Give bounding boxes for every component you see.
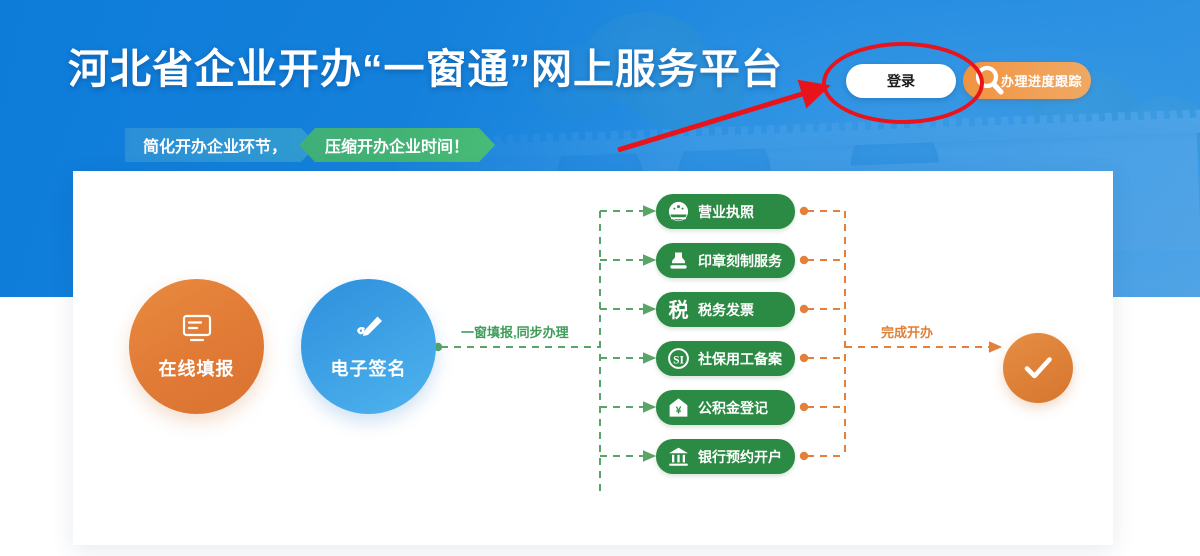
service-label: 税务发票 [698, 300, 754, 320]
social-insurance-icon: SI [667, 347, 690, 370]
service-item-seal-engraving[interactable]: 印章刻制服务 [656, 243, 795, 278]
tracking-button-label: 办理进度跟踪 [1001, 71, 1082, 90]
service-item-bank-account-appointment[interactable]: 银行预约开户 [656, 439, 795, 474]
merge-label: 完成开办 [881, 322, 933, 341]
completion-indicator[interactable] [1003, 333, 1073, 403]
tax-invoice-icon: 税 [667, 298, 690, 321]
step-label: 电子签名 [331, 355, 407, 381]
form-monitor-icon [180, 312, 214, 346]
process-flow-diagram: 在线填报 电子签名 一窗填报,同步办理 [73, 171, 1113, 545]
housing-fund-icon: ¥ [667, 396, 690, 419]
service-label: 营业执照 [698, 202, 754, 222]
svg-text:税: 税 [669, 298, 689, 321]
seal-stamp-icon [667, 249, 690, 272]
page-root: 河北省企业开办“一窗通”网上服务平台 简化开办企业环节， 压缩开办企业时间！ 登… [0, 0, 1200, 556]
service-label: 银行预约开户 [698, 447, 782, 467]
search-icon [970, 61, 1010, 101]
service-item-business-license[interactable]: 营业执照 [656, 194, 795, 229]
page-title: 河北省企业开办“一窗通”网上服务平台 [68, 35, 783, 95]
step-electronic-signature[interactable]: 电子签名 [301, 279, 436, 414]
tagline-segment-2: 压缩开办企业时间！ [299, 128, 495, 162]
service-label: 公积金登记 [698, 398, 768, 418]
tracking-progress-button[interactable]: 办理进度跟踪 [963, 62, 1091, 99]
content-card: 在线填报 电子签名 一窗填报,同步办理 [73, 171, 1113, 545]
service-label: 印章刻制服务 [698, 251, 782, 271]
signature-pen-icon [352, 312, 386, 346]
branch-label: 一窗填报,同步办理 [461, 322, 569, 341]
step-label: 在线填报 [159, 355, 235, 381]
tagline-banner: 简化开办企业环节， 压缩开办企业时间！ [125, 128, 495, 162]
bank-building-icon [667, 445, 690, 468]
service-item-social-insurance-filing[interactable]: SI 社保用工备案 [656, 341, 795, 376]
checkmark-icon [1017, 347, 1059, 389]
svg-text:SI: SI [673, 354, 684, 366]
service-item-tax-invoice[interactable]: 税 税务发票 [656, 292, 795, 327]
tagline-segment-1: 简化开办企业环节， [125, 128, 317, 162]
service-label: 社保用工备案 [698, 349, 782, 369]
service-item-housing-fund-registration[interactable]: ¥ 公积金登记 [656, 390, 795, 425]
business-license-emblem-icon [667, 200, 690, 223]
login-button[interactable]: 登录 [846, 64, 956, 98]
svg-text:¥: ¥ [676, 404, 682, 416]
step-online-filing[interactable]: 在线填报 [129, 279, 264, 414]
